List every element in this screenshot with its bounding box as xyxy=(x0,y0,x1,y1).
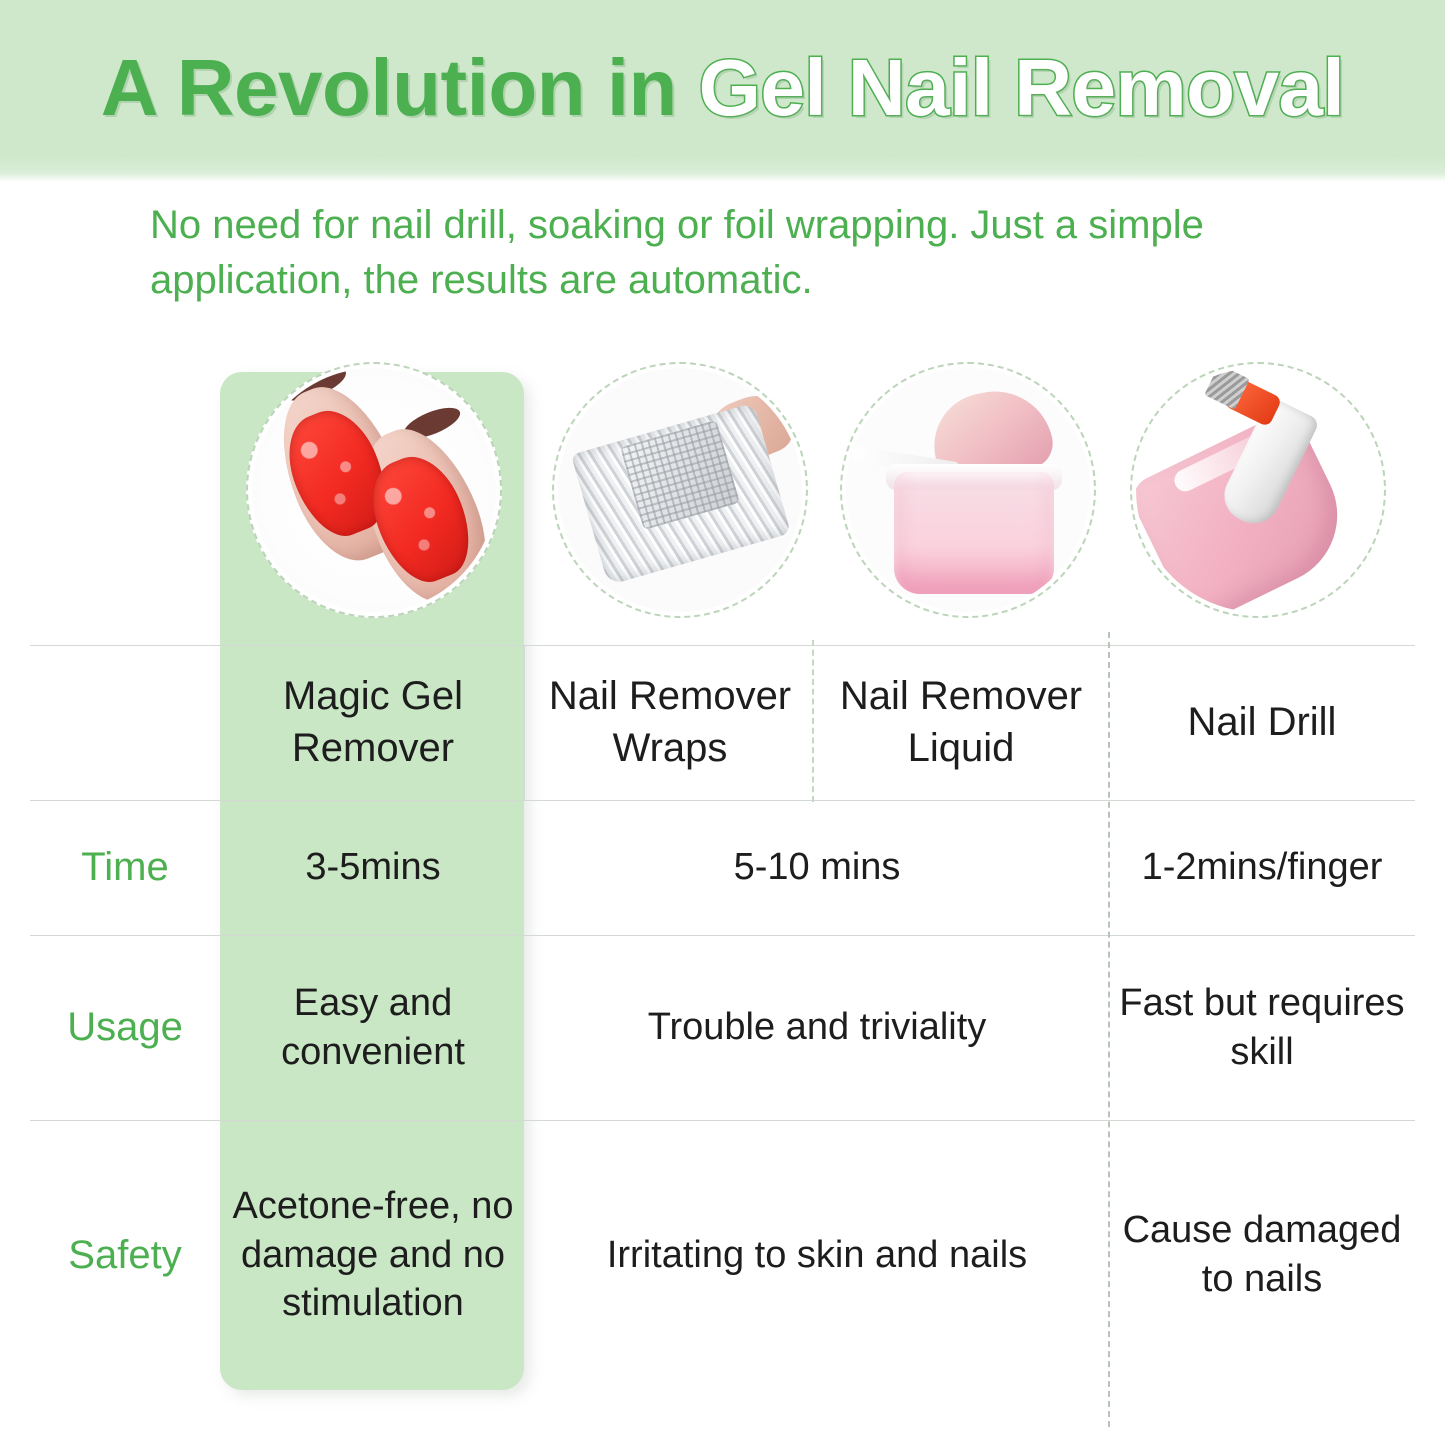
cell-safety-magic-gel-remover: Acetone-free, no damage and no stimulati… xyxy=(228,1120,518,1390)
page-title-part-white: Gel Nail Removal xyxy=(699,43,1345,132)
cell-safety-wraps-and-liquid: Irritating to skin and nails xyxy=(528,1120,1106,1390)
row-label-usage: Usage xyxy=(30,935,220,1120)
nail-drill-bit-photo xyxy=(1136,368,1380,612)
product-name-nail-drill: Nail Drill xyxy=(1112,645,1412,800)
page-title: A Revolution in Gel Nail Removal xyxy=(0,48,1445,128)
cell-time-wraps-and-liquid: 5-10 mins xyxy=(528,800,1106,935)
red-gel-peeling-nails-photo xyxy=(252,368,496,612)
pink-liquid-pot-photo xyxy=(846,368,1090,612)
image-ring-4 xyxy=(1130,362,1386,618)
page-subtitle: No need for nail drill, soaking or foil … xyxy=(150,198,1330,308)
cell-time-magic-gel-remover: 3-5mins xyxy=(228,800,518,935)
row-label-time: Time xyxy=(30,800,220,935)
image-ring-3 xyxy=(840,362,1096,618)
cell-usage-magic-gel-remover: Easy and convenient xyxy=(228,935,518,1120)
product-name-nail-remover-liquid: Nail Remover Liquid xyxy=(816,645,1106,800)
image-ring-1 xyxy=(246,362,502,618)
product-image-nail-remover-wraps xyxy=(552,362,808,618)
product-image-magic-gel-remover xyxy=(246,362,502,618)
comparison-table: Magic Gel Remover Nail Remover Wraps Nai… xyxy=(0,340,1445,1430)
cell-safety-nail-drill: Cause damaged to nails xyxy=(1112,1120,1412,1390)
column-divider-dashed-2 xyxy=(812,640,814,802)
header-banner: A Revolution in Gel Nail Removal xyxy=(0,0,1445,182)
product-image-row xyxy=(0,340,1445,640)
image-ring-2 xyxy=(552,362,808,618)
cell-usage-wraps-and-liquid: Trouble and triviality xyxy=(528,935,1106,1120)
row-label-safety: Safety xyxy=(30,1120,220,1390)
product-name-magic-gel-remover: Magic Gel Remover xyxy=(228,645,518,800)
column-divider-1 xyxy=(524,645,525,800)
foil-wrap-finger-photo xyxy=(558,368,802,612)
product-image-nail-remover-liquid xyxy=(840,362,1096,618)
product-name-nail-remover-wraps: Nail Remover Wraps xyxy=(528,645,812,800)
column-divider-dashed-3 xyxy=(1108,632,1110,1427)
page-title-part-green: A Revolution in xyxy=(101,43,699,132)
cell-usage-nail-drill: Fast but requires skill xyxy=(1112,935,1412,1120)
product-image-nail-drill xyxy=(1130,362,1386,618)
cell-time-nail-drill: 1-2mins/finger xyxy=(1112,800,1412,935)
